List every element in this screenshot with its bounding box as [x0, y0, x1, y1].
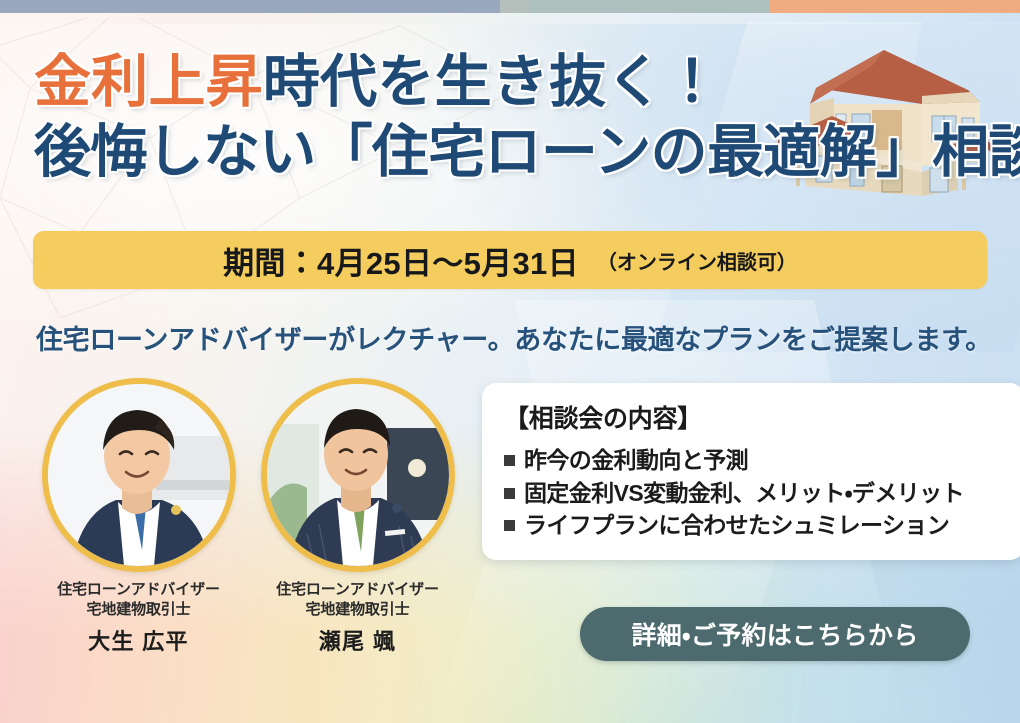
content-card-title: 【相談会の内容】 [504, 399, 1002, 435]
list-item: 固定金利VS変動金利、メリット・デメリット [504, 477, 1002, 510]
advisor-name: 瀬尾 颯 [255, 624, 460, 656]
headline-line-1: 金利上昇時代を生き抜く！ [34, 52, 994, 112]
advisor-card: 住宅ローンアドバイザー 宅地建物取引士 瀬尾 颯 [255, 378, 460, 656]
lede-text: 住宅ローンアドバイザーがレクチャー。あなたに最適なプランをご提案します。 [36, 318, 992, 357]
advisor-list: 住宅ローンアドバイザー 宅地建物取引士 大生 広平 [36, 378, 476, 656]
square-bullet-icon [504, 455, 515, 466]
advisor-card: 住宅ローンアドバイザー 宅地建物取引士 大生 広平 [36, 378, 241, 656]
period-note-text: （オンライン相談可） [597, 246, 797, 275]
advisor-caption: 住宅ローンアドバイザー 宅地建物取引士 大生 広平 [36, 580, 241, 656]
strip-overlay-peach [770, 0, 1020, 13]
square-bullet-icon [504, 488, 515, 499]
advisor-portrait-icon [48, 384, 230, 566]
list-item-label: 昨今の金利動向と予測 [524, 444, 748, 477]
period-main-text: 期間：4月25日〜5月31日 [223, 238, 579, 283]
content-card-list: 昨今の金利動向と予測 固定金利VS変動金利、メリット・デメリット ライフプランに… [504, 444, 1002, 542]
content-card: 【相談会の内容】 昨今の金利動向と予測 固定金利VS変動金利、メリット・デメリッ… [482, 383, 1020, 560]
reservation-cta-label: 詳細・ご予約はこちらから [631, 616, 918, 652]
headline: 金利上昇時代を生き抜く！ 後悔しない「住宅ローンの最適解」相談会 [34, 52, 994, 183]
headline-line-2: 後悔しない「住宅ローンの最適解」相談会 [34, 122, 994, 182]
list-item: 昨今の金利動向と予測 [504, 444, 1002, 477]
strip-segment-blue-gray [0, 0, 500, 13]
list-item: ライフプランに合わせたシュミレーション [504, 509, 1002, 542]
promo-poster: 金利上昇時代を生き抜く！ 後悔しない「住宅ローンの最適解」相談会 期間：4月25… [0, 0, 1020, 723]
avatar [261, 378, 455, 572]
advisor-portrait-icon [267, 384, 449, 566]
list-item-label: ライフプランに合わせたシュミレーション [524, 509, 949, 542]
headline-accent-text: 金利上昇 [34, 50, 263, 114]
avatar [42, 378, 236, 572]
advisor-role-line-2: 宅地建物取引士 [36, 600, 241, 620]
period-banner: 期間：4月25日〜5月31日 （オンライン相談可） [33, 231, 987, 289]
advisor-name: 大生 広平 [36, 624, 241, 656]
advisor-role-line-1: 住宅ローンアドバイザー [36, 580, 241, 600]
reservation-cta-button[interactable]: 詳細・ご予約はこちらから [580, 607, 970, 661]
advisor-role-line-1: 住宅ローンアドバイザー [255, 580, 460, 600]
advisor-caption: 住宅ローンアドバイザー 宅地建物取引士 瀬尾 颯 [255, 580, 460, 656]
advisor-role-line-2: 宅地建物取引士 [255, 600, 460, 620]
list-item-label: 固定金利VS変動金利、メリット・デメリット [524, 477, 964, 510]
headline-line-1-rest: 時代を生き抜く！ [263, 50, 721, 114]
square-bullet-icon [504, 520, 515, 531]
